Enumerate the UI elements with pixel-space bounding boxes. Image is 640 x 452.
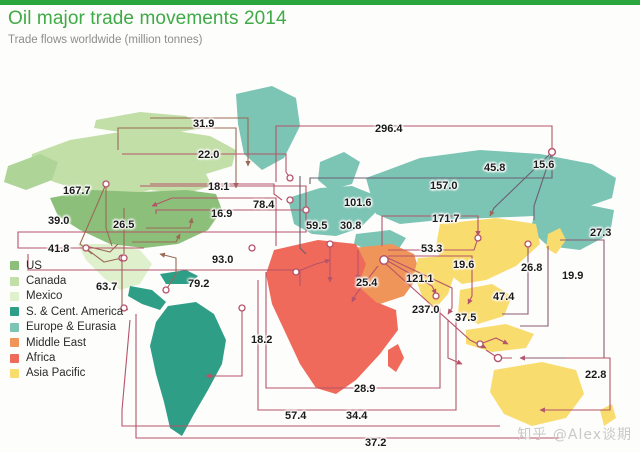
flow-value: 59.5	[306, 221, 327, 232]
flow-value: 237.0	[412, 305, 440, 316]
flow-value: 79.2	[188, 279, 209, 290]
flow-value: 93.0	[212, 255, 233, 266]
region-indonesia	[466, 324, 534, 352]
flow-value: 47.4	[493, 292, 514, 303]
region-canada	[30, 130, 236, 198]
flow-value: 45.8	[484, 163, 505, 174]
region-australia	[490, 362, 584, 426]
legend-item: Asia Pacific	[10, 366, 123, 381]
region-us	[50, 190, 222, 248]
legend-label: Mexico	[26, 290, 62, 302]
flow-value: 34.4	[346, 411, 367, 422]
flow-route	[520, 240, 604, 358]
legend-item: Middle East	[10, 335, 123, 350]
legend-label: Europe & Eurasia	[26, 321, 116, 333]
flow-value: 28.9	[354, 384, 375, 395]
region-madagascar	[388, 344, 404, 372]
legend-label: Canada	[26, 275, 66, 287]
region-greenland	[236, 86, 300, 170]
legend-swatch	[10, 338, 19, 347]
legend-swatch	[10, 354, 19, 363]
flow-value: 37.5	[455, 313, 476, 324]
flow-value: 22.0	[198, 150, 219, 161]
legend-item: Canada	[10, 273, 123, 288]
region-scandinavia	[318, 152, 360, 190]
flow-value: 167.7	[63, 186, 91, 197]
legend-item: US	[10, 258, 123, 273]
flow-value: 30.8	[340, 221, 361, 232]
world-map-stage	[0, 58, 640, 452]
region-central-america	[128, 286, 166, 310]
region-nz	[600, 404, 616, 426]
page-title: Oil major trade movements 2014	[8, 8, 287, 30]
region-alaska	[4, 154, 58, 190]
flow-value: 121.1	[406, 274, 434, 285]
flow-value: 16.9	[211, 209, 232, 220]
flow-value: 157.0	[430, 181, 458, 192]
watermark: 知乎 @Alex谈期	[517, 424, 632, 444]
legend-item: Africa	[10, 350, 123, 365]
legend-item: Mexico	[10, 289, 123, 304]
flow-value: 39.0	[48, 216, 69, 227]
flow-value: 296.4	[375, 124, 403, 135]
flow-value: 171.7	[432, 214, 460, 225]
region-europe	[288, 186, 376, 236]
legend-swatch	[10, 323, 19, 332]
infographic-root: Oil major trade movements 2014 Trade flo…	[0, 0, 640, 452]
legend: USCanadaMexicoS. & Cent. AmericaEurope &…	[10, 258, 123, 381]
page-subtitle: Trade flows worldwide (million tonnes)	[8, 32, 287, 48]
flow-value: 37.2	[365, 438, 386, 449]
region-south-america	[150, 302, 226, 436]
top-accent-bar	[0, 0, 640, 5]
legend-swatch	[10, 277, 19, 286]
legend-swatch	[10, 307, 19, 316]
flow-value: 78.4	[253, 200, 274, 211]
flow-value: 22.8	[585, 370, 606, 381]
flow-value: 26.5	[113, 220, 134, 231]
world-map-svg	[0, 58, 640, 452]
flow-value: 19.9	[562, 271, 583, 282]
legend-swatch	[10, 369, 19, 378]
flow-value: 25.4	[356, 278, 377, 289]
flow-value: 18.2	[251, 335, 272, 346]
legend-label: US	[26, 260, 42, 272]
legend-label: S. & Cent. America	[26, 306, 123, 318]
region-asia-pacific	[436, 218, 540, 284]
region-canada-arctic	[94, 112, 204, 134]
flow-value: 15.6	[533, 160, 554, 171]
flow-value: 41.8	[48, 244, 69, 255]
flow-value: 27.3	[590, 228, 611, 239]
legend-label: Asia Pacific	[26, 367, 85, 379]
flow-value: 53.3	[421, 244, 442, 255]
flow-value: 26.8	[521, 263, 542, 274]
legend-label: Middle East	[26, 337, 86, 349]
legend-swatch	[10, 261, 19, 270]
legend-swatch	[10, 292, 19, 301]
legend-label: Africa	[26, 352, 55, 364]
flow-value: 19.6	[453, 260, 474, 271]
flow-value: 31.9	[193, 119, 214, 130]
flow-value: 101.6	[344, 198, 372, 209]
flow-value: 57.4	[285, 411, 306, 422]
flow-value: 18.1	[208, 182, 229, 193]
legend-item: S. & Cent. America	[10, 304, 123, 319]
legend-item: Europe & Eurasia	[10, 320, 123, 335]
header: Oil major trade movements 2014 Trade flo…	[8, 8, 287, 48]
